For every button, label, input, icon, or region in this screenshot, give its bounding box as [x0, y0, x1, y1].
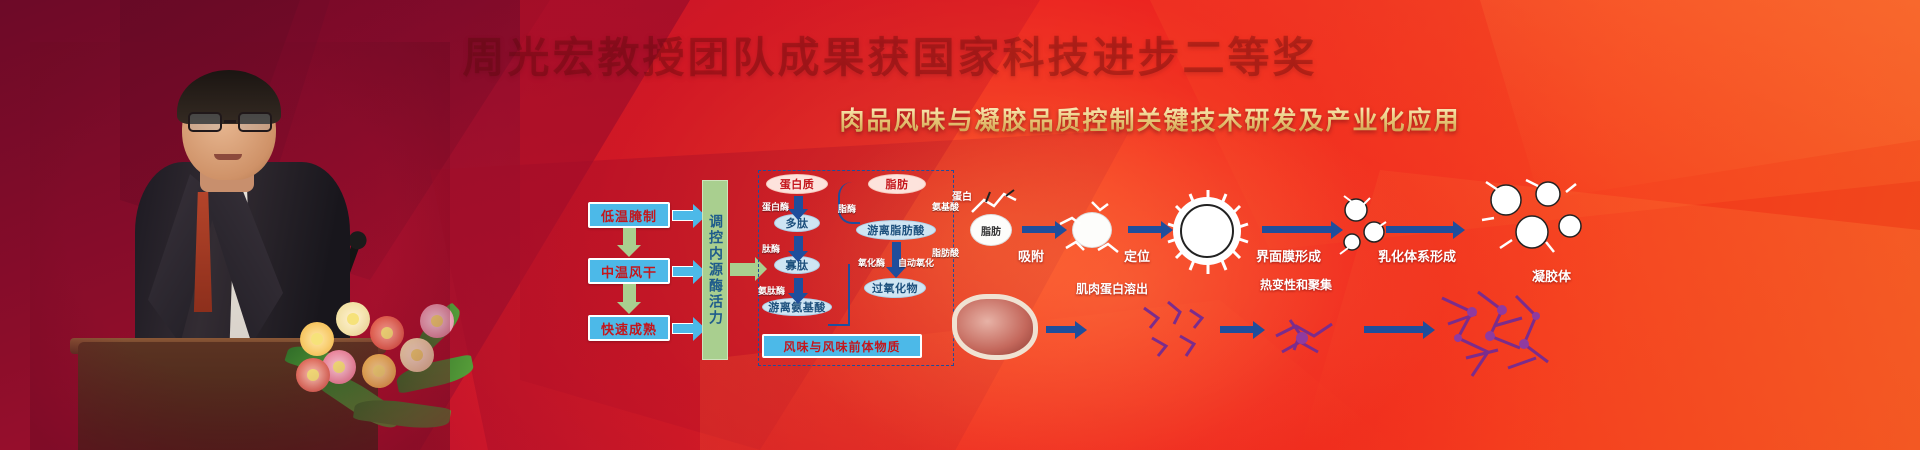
- process-box-low-temp-curing: 低温腌制: [588, 202, 670, 228]
- speaker-photo: [30, 42, 450, 450]
- regulation-bar: 调控内源酶活力: [702, 180, 728, 360]
- ellipse-peroxide: 过氧化物: [864, 278, 926, 298]
- arrow-oligopeptide-to-amino: [794, 278, 803, 294]
- emulsion-system-icon: [1476, 174, 1588, 260]
- ellipse-protein: 蛋白质: [766, 174, 828, 194]
- arrow-right-curing: [672, 210, 694, 221]
- process-diagram: 低温腌制 中温风干 快速成熟 调控内源酶活力 蛋白质 脂肪 多肽 寡肽 游离氨基…: [580, 160, 1910, 450]
- arrow-film-formation: [1262, 226, 1332, 233]
- arrow-emulsion-formation: [1386, 226, 1454, 233]
- aggregated-protein-icon: [1266, 302, 1346, 372]
- label-peptidase: 肽酶: [762, 242, 780, 255]
- banner-background: 周光宏教授团队成果获国家科技进步二等奖 肉品风味与凝胶品质控制关键技术研发及产业…: [0, 0, 1920, 450]
- arrow-down-1: [623, 228, 636, 246]
- step-label-protein-extraction: 肌肉蛋白溶出: [1076, 282, 1148, 297]
- flavor-result-box: 风味与风味前体物质: [762, 334, 922, 358]
- step-label-thermal-denaturation: 热变性和聚集: [1260, 278, 1332, 293]
- arrow-right-ripening: [672, 323, 694, 334]
- arrow-adsorption: [1022, 226, 1056, 233]
- label-autoxidation: 自动氧化: [898, 256, 934, 269]
- label-gel-result: 凝胶体: [1532, 266, 1571, 285]
- step-label-positioning: 定位: [1124, 246, 1150, 265]
- gel-network-icon: [1432, 278, 1562, 388]
- spike-halo-icon: [1166, 190, 1250, 274]
- process-box-medium-temp-drying: 中温风干: [588, 258, 670, 284]
- step-label-film-formation: 界面膜形成: [1256, 246, 1321, 265]
- arrow-positioning: [1128, 226, 1162, 233]
- ellipse-fat: 脂肪: [868, 174, 926, 194]
- photo-vignette: [30, 42, 450, 450]
- step-label-adsorption: 吸附: [1018, 246, 1044, 265]
- emulsion-cluster-icon: [1336, 188, 1392, 260]
- connector-oligopeptide-down: [828, 264, 850, 326]
- arrow-gel-3: [1364, 326, 1424, 333]
- label-side-fatty-acid: 脂肪酸: [932, 246, 959, 259]
- process-box-rapid-ripening: 快速成熟: [588, 315, 670, 341]
- dissolved-protein-icon: [1140, 298, 1212, 360]
- ellipse-free-fatty-acid: 游离脂肪酸: [856, 220, 936, 240]
- protein-strand-icon-2: [1058, 200, 1126, 262]
- arrow-gel-1: [1046, 326, 1076, 333]
- page-title: 周光宏教授团队成果获国家科技进步二等奖: [300, 30, 1480, 82]
- label-lipase: 脂酶: [838, 202, 856, 215]
- label-protease: 蛋白酶: [762, 200, 789, 213]
- page-subtitle: 肉品风味与凝胶品质控制关键技术研发及产业化应用: [560, 104, 1740, 138]
- protein-strand-icon-1: [968, 186, 1026, 220]
- label-aminopeptidase: 氨肽酶: [758, 284, 785, 297]
- arrow-right-to-biochem: [730, 263, 756, 276]
- meat-cut-icon: [952, 294, 1038, 360]
- arrow-gel-2: [1220, 326, 1254, 333]
- arrow-right-drying: [672, 266, 694, 277]
- arrow-protein-to-polypeptide: [794, 196, 803, 210]
- arrow-down-2: [623, 284, 636, 303]
- connector-vertical: [848, 264, 850, 326]
- label-oxidase: 氧化酶: [858, 256, 885, 269]
- arrow-polypeptide-to-oligopeptide: [794, 236, 803, 252]
